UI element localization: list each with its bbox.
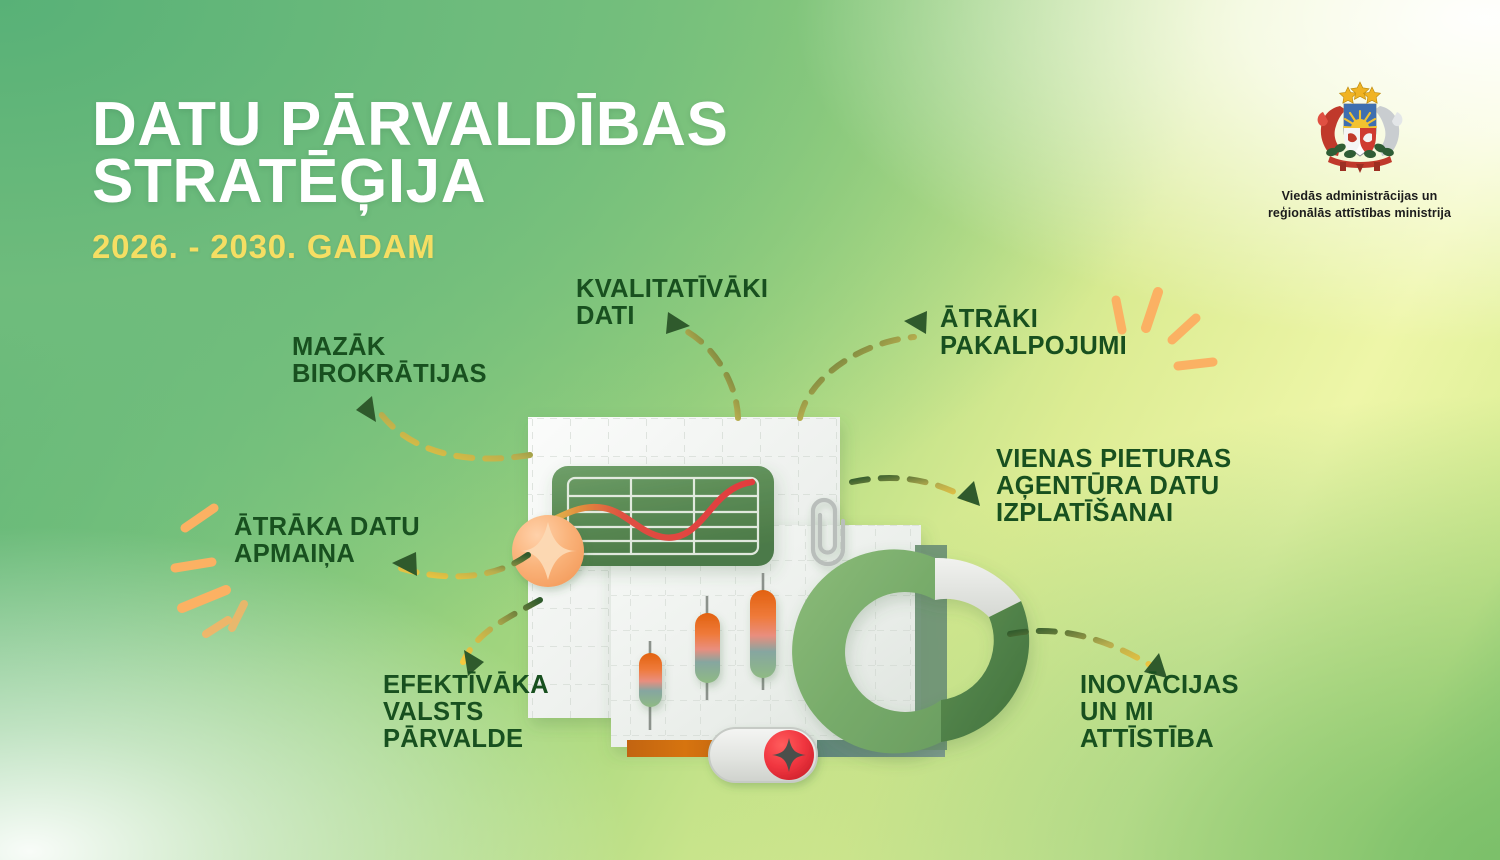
callout-atraka-datu-apmaina: ĀTRĀKA DATU APMAIŅA — [234, 514, 420, 568]
callout-vienas-pieturas-agentura: VIENAS PIETURAS AĢENTŪRA DATU IZPLATĪŠAN… — [996, 446, 1231, 527]
trend-line — [545, 482, 752, 538]
callout-mazak-birokratijas: MAZĀK BIROKRĀTIJAS — [292, 334, 487, 388]
candlestick-3 — [750, 573, 776, 690]
callout-efektivaka-valsts-parvalde: EFEKTĪVĀKA VALSTS PĀRVALDE — [383, 672, 549, 753]
grid-sheet-lower — [611, 525, 921, 747]
orange-accent-bar — [627, 740, 732, 757]
toggle-switch[interactable] — [709, 728, 817, 782]
title-block: DATU PĀRVALDĪBAS STRATĒĢIJA 2026. - 2030… — [92, 96, 729, 266]
sparkle-badge — [512, 515, 584, 587]
arrow-to-vienas — [852, 478, 968, 499]
donut-chart — [792, 549, 1029, 753]
teal-accent-bar — [817, 740, 945, 757]
candlestick-1 — [639, 641, 662, 730]
latvia-coat-of-arms-icon — [1296, 78, 1424, 178]
page-title-line1: DATU PĀRVALDĪBAS — [92, 96, 729, 153]
page-subtitle: 2026. - 2030. GADAM — [92, 228, 729, 266]
ministry-name: Viedās administrācijas un reģionālās att… — [1252, 188, 1467, 222]
sparkle-icon — [772, 738, 806, 772]
callout-atraki-pakalpojumi: ĀTRĀKI PAKALPOJUMI — [940, 306, 1127, 360]
dark-green-block — [915, 545, 947, 750]
arrow-to-kvalitativaki — [678, 327, 738, 418]
arrow-to-mazak — [378, 410, 530, 459]
arrow-to-inovacijas — [1010, 631, 1155, 668]
table-chart-card — [545, 466, 774, 566]
arrow-to-atraki — [800, 337, 914, 418]
paperclip-icon — [813, 500, 843, 564]
ministry-logo-block: Viedās administrācijas un reģionālās att… — [1252, 78, 1467, 222]
toggle-knob — [764, 730, 814, 780]
grid-sheet-upper — [528, 417, 840, 718]
callout-inovacijas-un-mi: INOVĀCIJAS UN MI ATTĪSTĪBA — [1080, 672, 1239, 753]
page-title-line2: STRATĒĢIJA — [92, 153, 729, 210]
callout-kvalitativaki-dati: KVALITATĪVĀKI DATI — [576, 276, 768, 330]
infographic-canvas: DATU PĀRVALDĪBAS STRATĒĢIJA 2026. - 2030… — [0, 0, 1500, 860]
decorative-rays-right — [1116, 292, 1213, 366]
arrow-to-efektivaka — [463, 600, 540, 662]
candlestick-2 — [695, 596, 720, 700]
candlestick-group — [639, 573, 776, 730]
